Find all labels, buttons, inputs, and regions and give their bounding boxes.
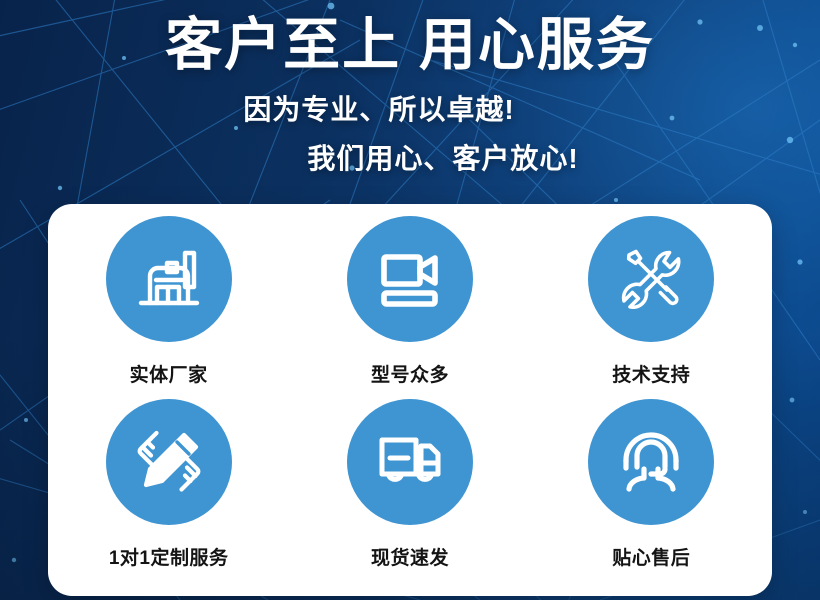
feature-label: 技术支持: [612, 366, 690, 385]
subtitle-line-1: 因为专业、所以卓越!: [0, 96, 820, 124]
headset-support-icon: [612, 423, 690, 501]
feature-card: 实体厂家 型号众多: [48, 204, 772, 596]
delivery-truck-icon: [371, 423, 449, 501]
feature-label: 贴心售后: [612, 549, 690, 568]
banner-header: 客户至上 用心服务 因为专业、所以卓越! 我们用心、客户放心!: [0, 0, 820, 173]
feature-label: 1对1定制服务: [109, 549, 229, 568]
feature-item-factory[interactable]: 实体厂家: [69, 216, 269, 385]
factory-icon: [130, 240, 208, 318]
feature-row-bottom: 1对1定制服务: [48, 399, 772, 568]
factory-icon-circle: [106, 216, 232, 342]
pencil-ruler-icon: [130, 423, 208, 501]
wrench-screwdriver-icon: [612, 240, 690, 318]
delivery-truck-icon-circle: [347, 399, 473, 525]
feature-label: 实体厂家: [130, 366, 208, 385]
main-title: 客户至上 用心服务: [0, 0, 820, 74]
feature-label: 现货速发: [371, 549, 449, 568]
wrench-screwdriver-icon-circle: [588, 216, 714, 342]
subtitle-line-2: 我们用心、客户放心!: [0, 145, 820, 173]
feature-label: 型号众多: [371, 366, 449, 385]
video-camera-icon: [371, 240, 449, 318]
promo-banner: 客户至上 用心服务 因为专业、所以卓越! 我们用心、客户放心!: [0, 0, 820, 600]
feature-item-custom-service[interactable]: 1对1定制服务: [69, 399, 269, 568]
feature-item-support[interactable]: 技术支持: [551, 216, 751, 385]
headset-support-icon-circle: [588, 399, 714, 525]
feature-item-after-sales[interactable]: 贴心售后: [551, 399, 751, 568]
feature-item-models[interactable]: 型号众多: [310, 216, 510, 385]
feature-item-fast-shipping[interactable]: 现货速发: [310, 399, 510, 568]
pencil-ruler-icon-circle: [106, 399, 232, 525]
feature-row-top: 实体厂家 型号众多: [48, 216, 772, 385]
video-camera-icon-circle: [347, 216, 473, 342]
